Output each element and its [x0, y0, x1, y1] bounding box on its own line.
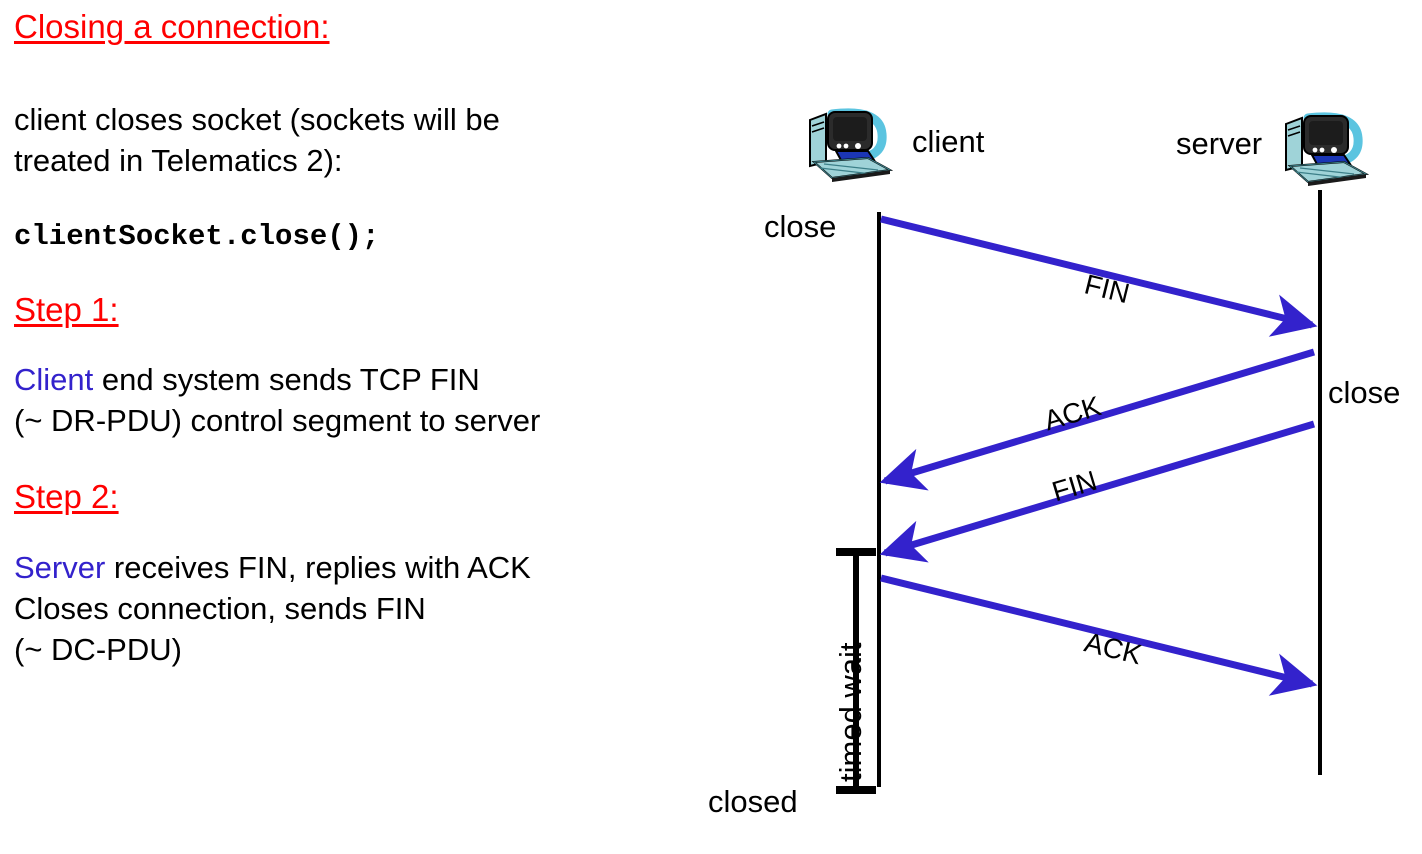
step1-line-2: (~ DR-PDU) control segment to server	[14, 401, 540, 441]
client-lifeline	[877, 212, 881, 787]
server-close-label: close	[1328, 375, 1400, 411]
code-snippet: clientSocket.close();	[14, 220, 379, 253]
step2-line-3: (~ DC-PDU)	[14, 630, 182, 670]
step1-heading: Step 1:	[14, 291, 119, 330]
intro-line-2: treated in Telematics 2):	[14, 141, 343, 181]
closed-label: closed	[708, 784, 798, 820]
step2-line-1: Server receives FIN, replies with ACK	[14, 548, 531, 588]
step2-line-1-rest: receives FIN, replies with ACK	[105, 550, 531, 585]
message-label-fin-2: FIN	[1048, 465, 1100, 509]
message-label-fin-1: FIN	[1081, 268, 1132, 310]
step2-line-2: Closes connection, sends FIN	[14, 589, 426, 629]
client-computer-icon	[802, 104, 894, 186]
timed-wait-bracket-bottom	[836, 786, 876, 794]
step1-actor: Client	[14, 362, 93, 397]
slide-canvas: Closing a connection: client closes sock…	[0, 0, 1422, 854]
step2-actor: Server	[14, 550, 105, 585]
step1-line-1-rest: end system sends TCP FIN	[93, 362, 480, 397]
arrow-fin-server-to-client	[885, 424, 1314, 553]
server-computer-icon	[1278, 108, 1370, 190]
timed-wait-label: timed wait	[833, 642, 869, 782]
server-label: server	[1176, 126, 1262, 162]
slide-heading: Closing a connection:	[14, 8, 330, 47]
client-label: client	[912, 124, 984, 160]
message-label-ack-2: ACK	[1081, 626, 1145, 671]
server-lifeline	[1318, 190, 1322, 775]
step2-heading: Step 2:	[14, 478, 119, 517]
message-label-ack-1: ACK	[1040, 390, 1104, 437]
client-close-label: close	[764, 209, 836, 245]
intro-line-1: client closes socket (sockets will be	[14, 100, 500, 140]
step1-line-1: Client end system sends TCP FIN	[14, 360, 480, 400]
